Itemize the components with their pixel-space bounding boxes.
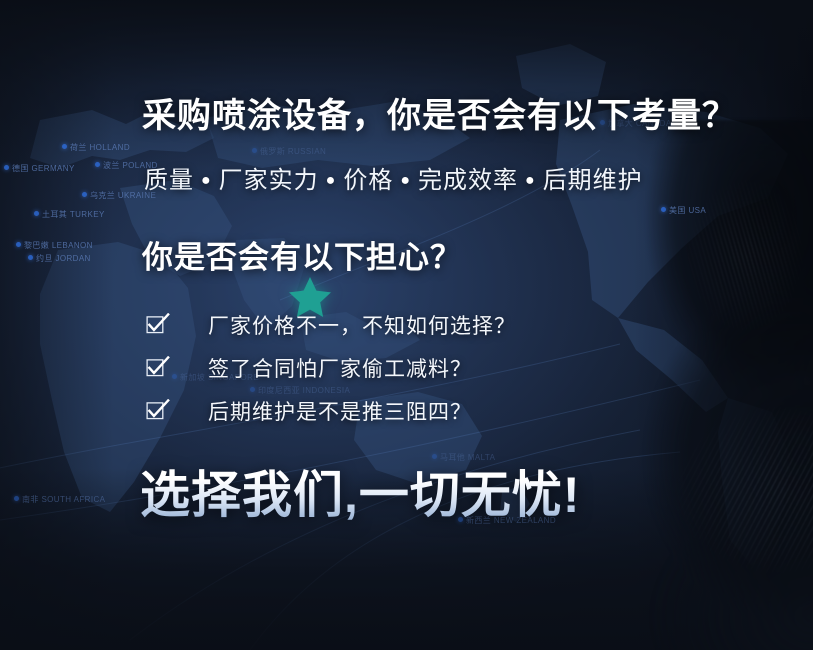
consideration-item: 质量 bbox=[144, 167, 194, 194]
consideration-item: 完成效率 bbox=[418, 167, 518, 194]
bullet-separator: ● bbox=[201, 172, 212, 190]
concern-label: 签了合同怕厂家偷工减料？ bbox=[208, 353, 472, 383]
consideration-item: 价格 bbox=[343, 167, 393, 194]
concern-label: 厂家价格不一，不知如何选择？ bbox=[208, 310, 516, 340]
bullet-separator: ● bbox=[326, 172, 337, 190]
consideration-item: 厂家实力 bbox=[219, 167, 319, 194]
checkbox-checked-icon bbox=[146, 313, 170, 337]
concern-label: 后期维护是不是推三阻四？ bbox=[208, 396, 472, 426]
page-title: 采购喷涂设备，你是否会有以下考量？ bbox=[142, 88, 737, 137]
bullet-separator: ● bbox=[400, 172, 411, 190]
bullet-separator: ● bbox=[525, 172, 536, 190]
list-item: 后期维护是不是推三阻四？ bbox=[146, 391, 516, 431]
consideration-list: 质量●厂家实力●价格●完成效率●后期维护 bbox=[144, 160, 643, 195]
concern-checklist: 厂家价格不一，不知如何选择？签了合同怕厂家偷工减料？后期维护是不是推三阻四？ bbox=[146, 305, 516, 434]
banner-content: 采购喷涂设备，你是否会有以下考量？ 质量●厂家实力●价格●完成效率●后期维护 你… bbox=[0, 0, 813, 650]
checkbox-checked-icon bbox=[146, 356, 170, 380]
consideration-item: 后期维护 bbox=[543, 167, 643, 194]
list-item: 签了合同怕厂家偷工减料？ bbox=[146, 348, 516, 388]
slogan-text: 选择我们,一切无忧! bbox=[140, 455, 581, 527]
secondary-heading: 你是否会有以下担心？ bbox=[142, 232, 462, 277]
list-item: 厂家价格不一，不知如何选择？ bbox=[146, 305, 516, 345]
promo-banner: 荷兰 HOLLAND波兰 POLAND德国 GERMANY乌克兰 UKRAINE… bbox=[0, 0, 813, 650]
checkbox-checked-icon bbox=[146, 399, 170, 423]
